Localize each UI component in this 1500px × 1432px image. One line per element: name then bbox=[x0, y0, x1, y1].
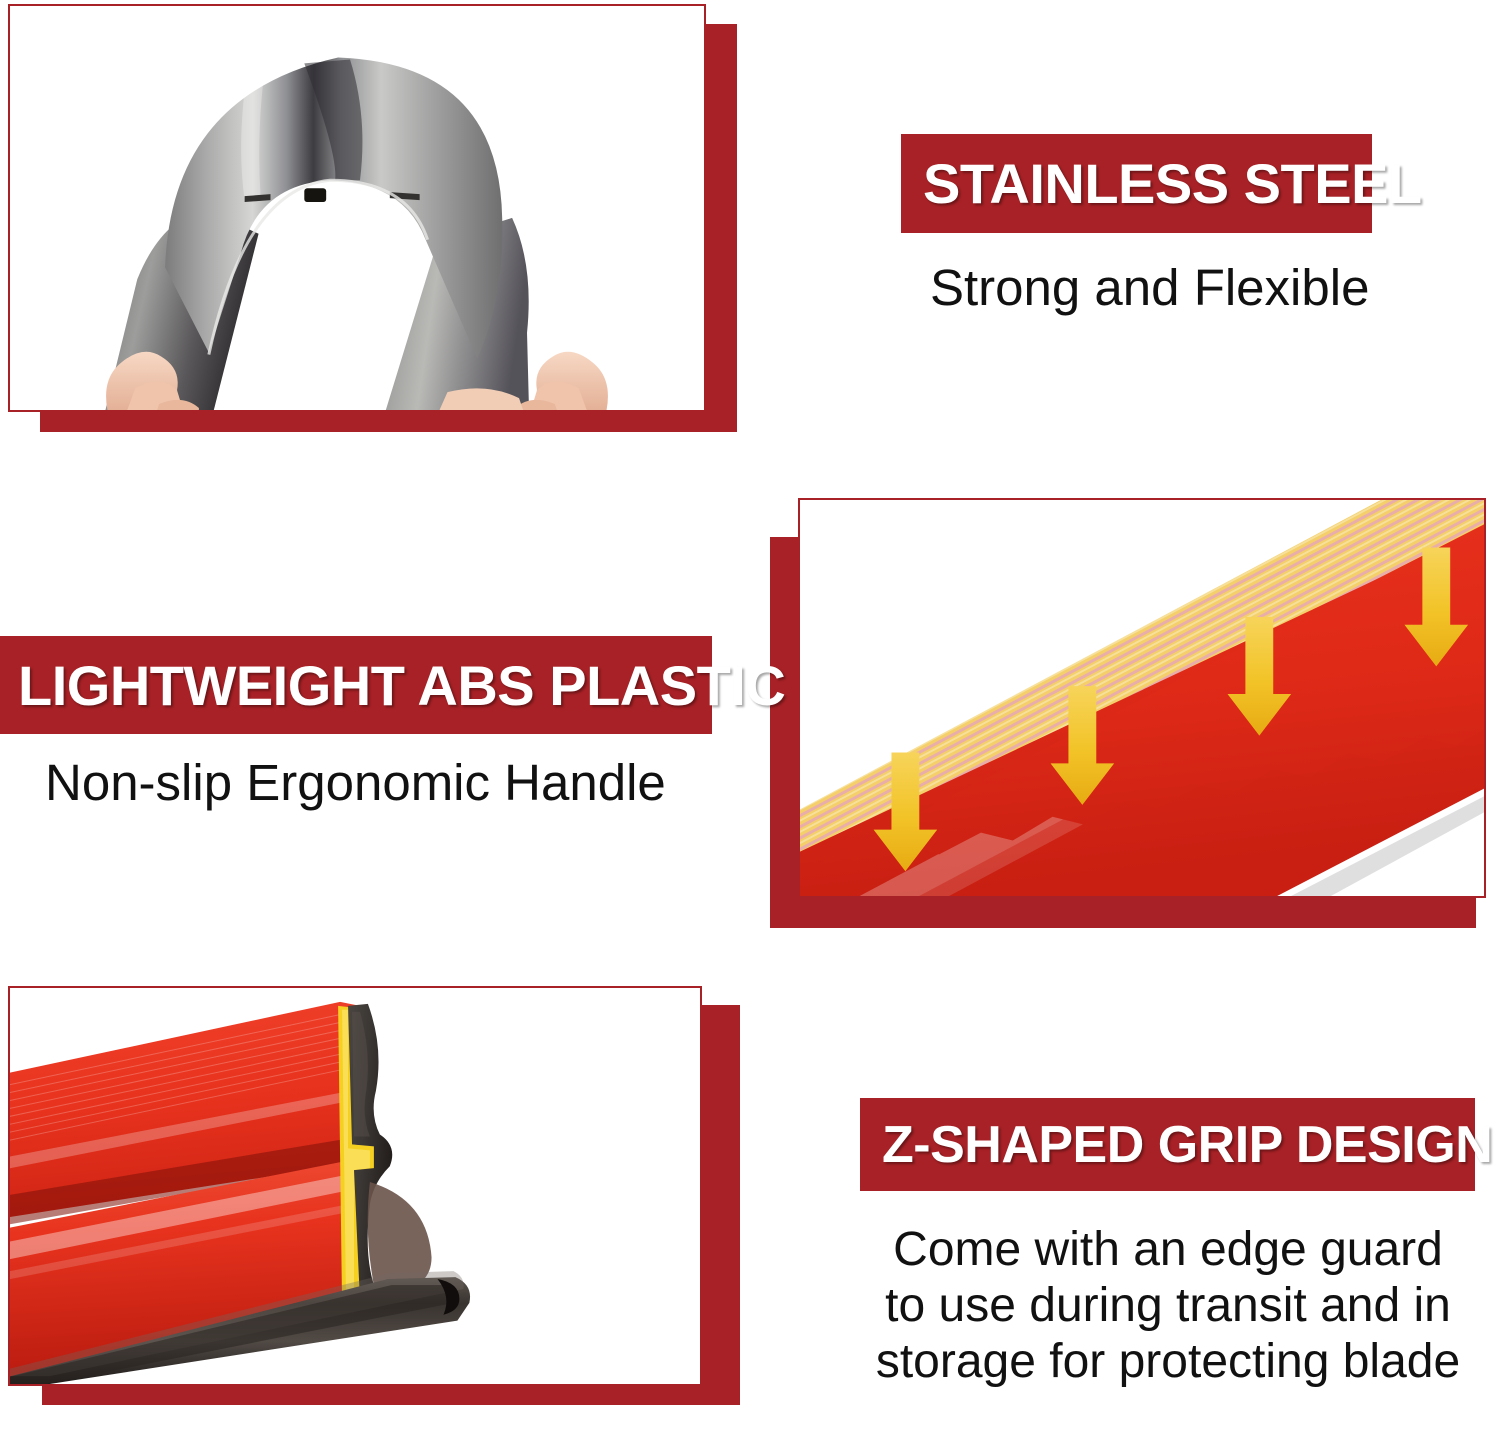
badge-z-shaped-grip-design: Z-SHAPED GRIP DESIGN bbox=[860, 1098, 1475, 1191]
badge-label: STAINLESS STEEL bbox=[923, 151, 1422, 216]
photo-panel-abs-plastic bbox=[770, 480, 1500, 940]
photo-panel-stainless-steel bbox=[0, 0, 760, 460]
panel-frame bbox=[8, 4, 706, 412]
badge-label: LIGHTWEIGHT ABS PLASTIC bbox=[18, 653, 785, 718]
photo-stainless-steel-blade bbox=[10, 6, 704, 410]
subtitle-stainless-steel: Strong and Flexible bbox=[930, 258, 1369, 317]
product-feature-infographic: STAINLESS STEEL Strong and Flexible bbox=[0, 0, 1500, 1432]
subtitle-lightweight-abs-plastic: Non-slip Ergonomic Handle bbox=[45, 753, 666, 812]
photo-panel-z-shaped-grip bbox=[0, 980, 760, 1432]
badge-lightweight-abs-plastic: LIGHTWEIGHT ABS PLASTIC bbox=[0, 636, 712, 734]
subtitle-z-shaped-grip-design: Come with an edge guard to use during tr… bbox=[868, 1222, 1468, 1390]
badge-label: Z-SHAPED GRIP DESIGN bbox=[882, 1115, 1492, 1175]
panel-frame bbox=[798, 498, 1486, 898]
photo-z-grip-handle-and-guard bbox=[10, 988, 700, 1384]
photo-abs-body-arrows bbox=[800, 500, 1484, 896]
panel-frame bbox=[8, 986, 702, 1386]
badge-stainless-steel: STAINLESS STEEL bbox=[901, 134, 1372, 233]
